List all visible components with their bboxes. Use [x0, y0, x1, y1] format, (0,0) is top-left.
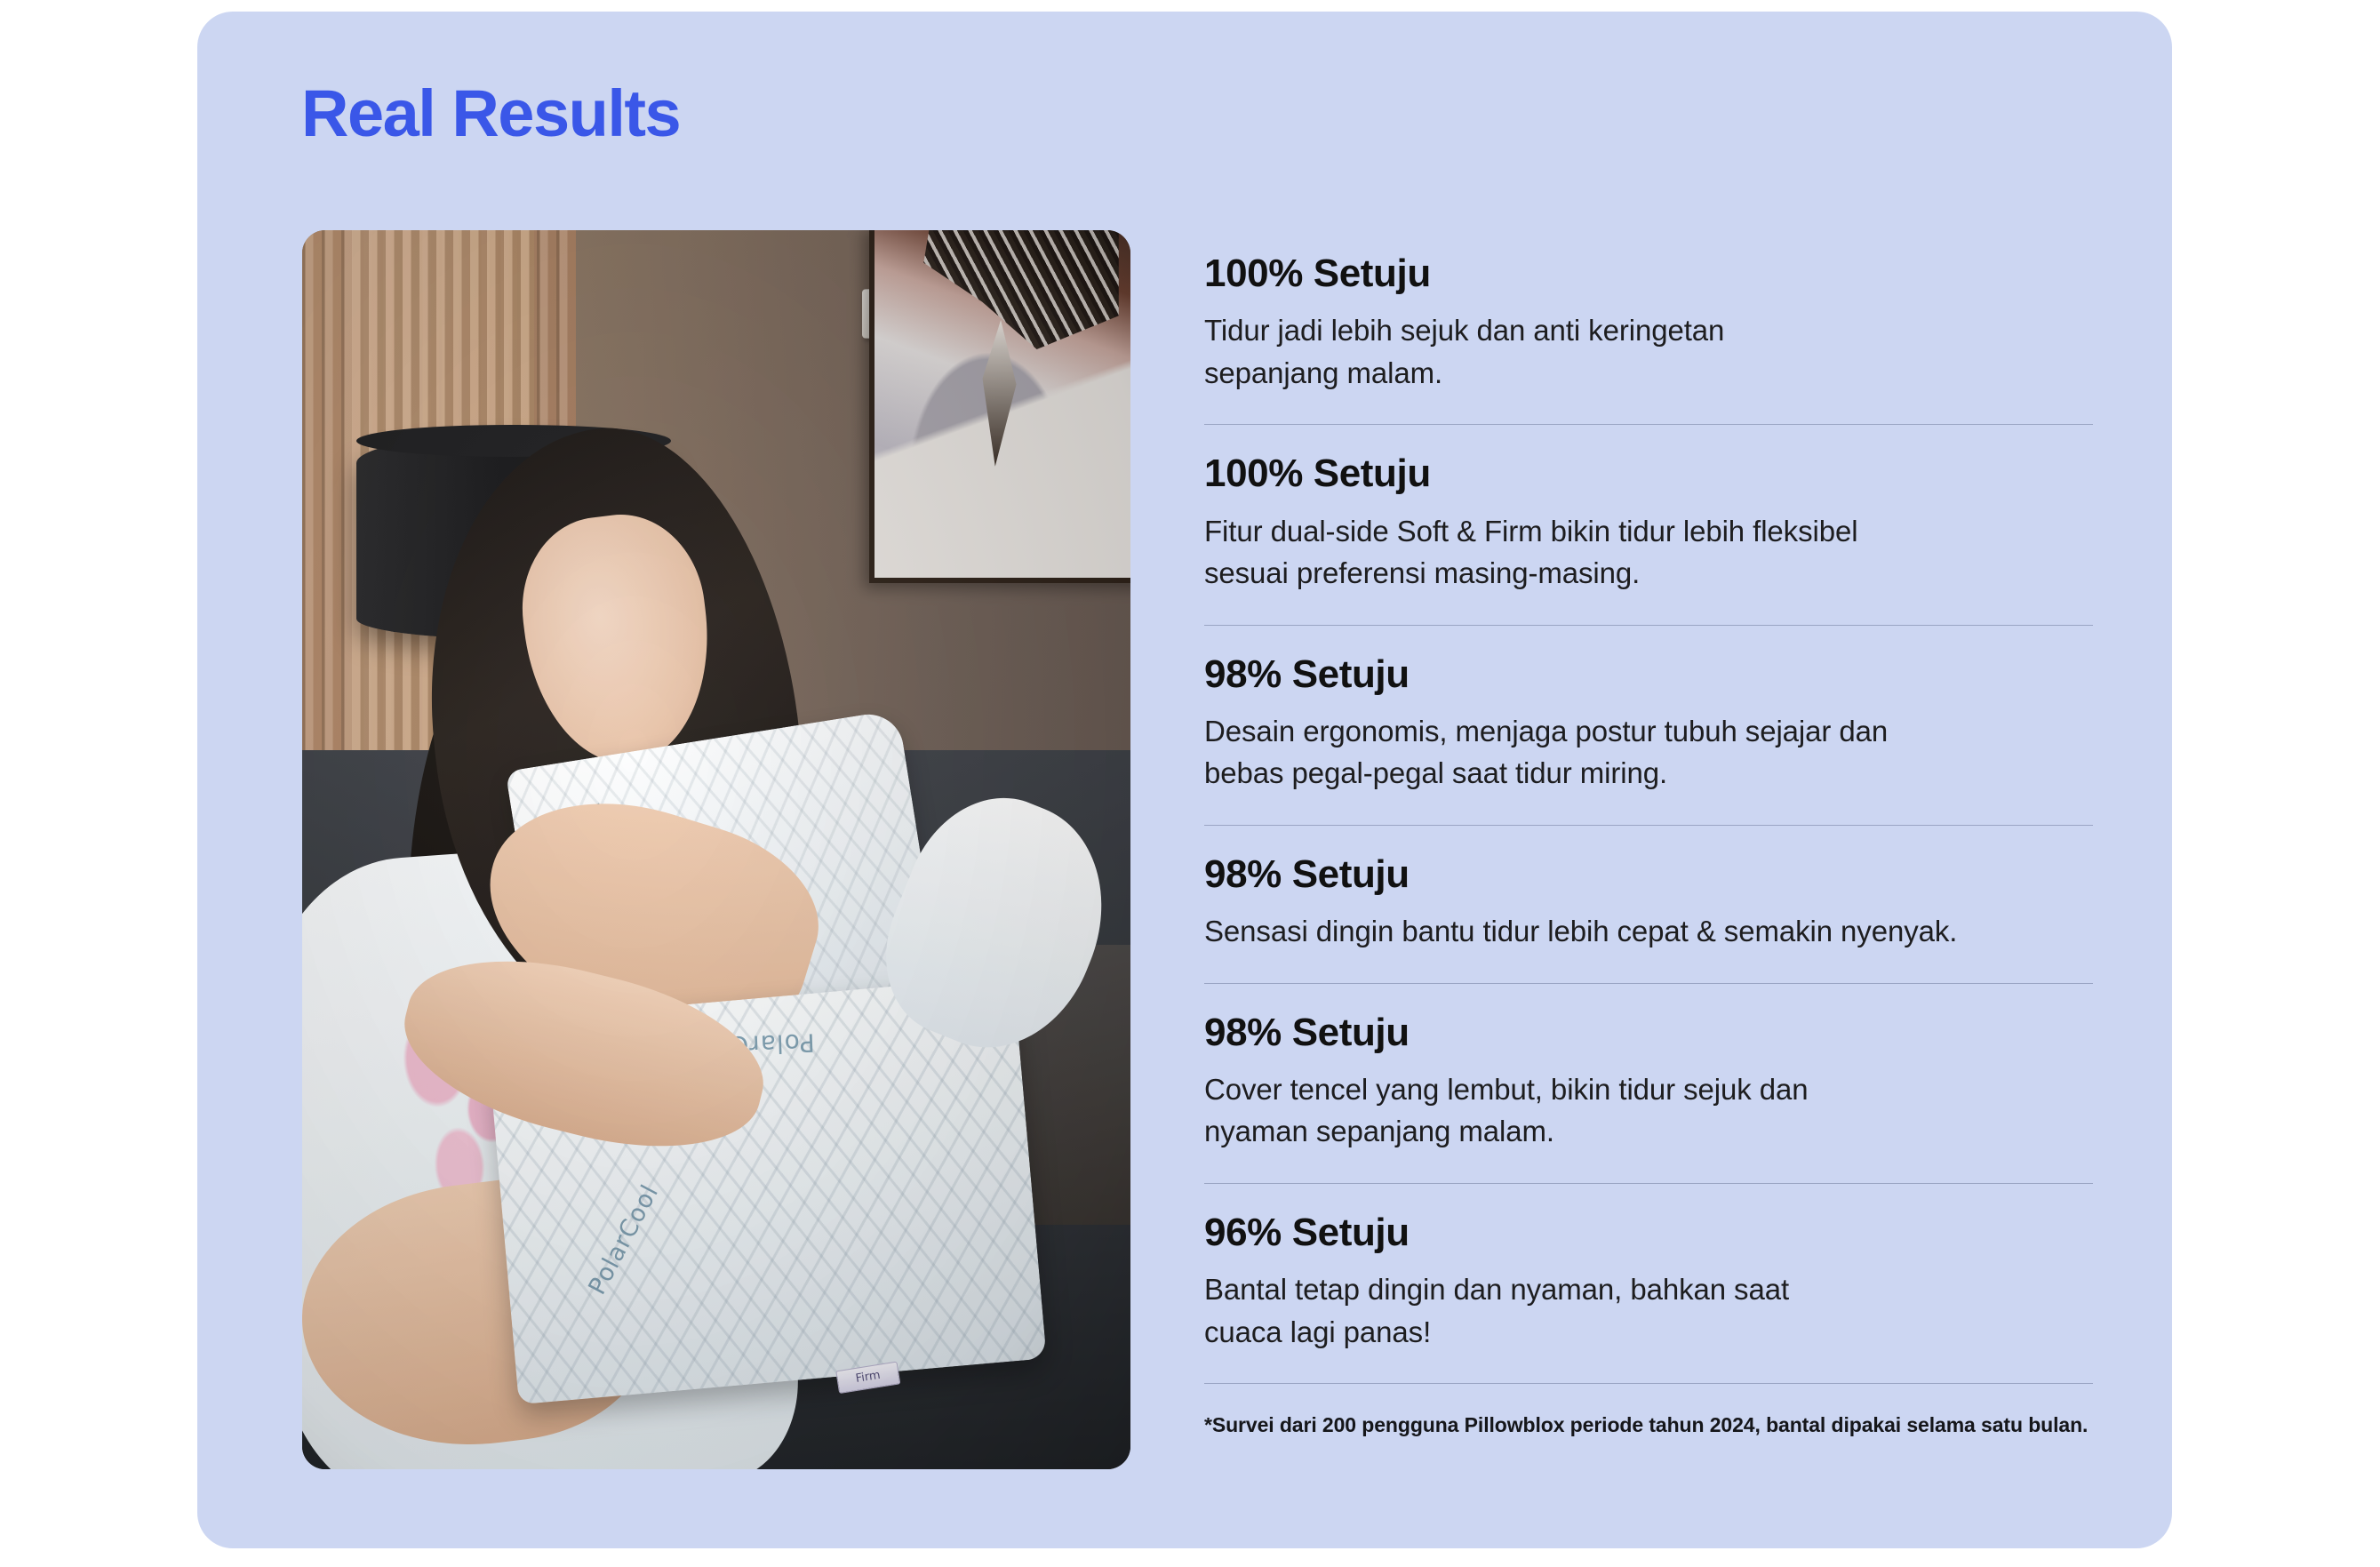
result-percent: 96% Setuju [1204, 1211, 2093, 1254]
artwork-canvas [875, 230, 1130, 578]
divider [1204, 424, 2093, 425]
page-root: Real Results [0, 0, 2380, 1567]
real-results-card: Real Results [197, 12, 2172, 1548]
result-description: Cover tencel yang lembut, bikin tidur se… [1204, 1068, 2093, 1153]
result-item: 100% Setuju Tidur jadi lebih sejuk dan a… [1204, 252, 2093, 394]
result-item: 100% Setuju Fitur dual-side Soft & Firm … [1204, 452, 2093, 594]
result-item: 98% Setuju Desain ergonomis, menjaga pos… [1204, 652, 2093, 795]
photo-scene: PolarCool PolarCool PolarCool Firm [302, 230, 1130, 1469]
result-percent: 98% Setuju [1204, 852, 2093, 896]
survey-footnote: *Survei dari 200 pengguna Pillowblox per… [1204, 1411, 2093, 1439]
result-description: Sensasi dingin bantu tidur lebih cepat &… [1204, 910, 2093, 953]
framed-artwork [869, 230, 1130, 583]
divider [1204, 825, 2093, 826]
result-item: 98% Setuju Sensasi dingin bantu tidur le… [1204, 852, 2093, 953]
result-description: Desain ergonomis, menjaga postur tubuh s… [1204, 710, 2093, 795]
result-percent: 100% Setuju [1204, 452, 2093, 495]
result-description: Bantal tetap dingin dan nyaman, bahkan s… [1204, 1268, 2093, 1353]
page-title: Real Results [301, 81, 680, 147]
divider [1204, 1383, 2093, 1384]
result-percent: 98% Setuju [1204, 652, 2093, 696]
result-percent: 98% Setuju [1204, 1011, 2093, 1054]
results-list: 100% Setuju Tidur jadi lebih sejuk dan a… [1204, 252, 2093, 1439]
lifestyle-photo: PolarCool PolarCool PolarCool Firm [302, 230, 1130, 1469]
divider [1204, 625, 2093, 626]
divider [1204, 1183, 2093, 1184]
result-description: Tidur jadi lebih sejuk dan anti keringet… [1204, 309, 2093, 394]
result-item: 96% Setuju Bantal tetap dingin dan nyama… [1204, 1211, 2093, 1353]
result-item: 98% Setuju Cover tencel yang lembut, bik… [1204, 1011, 2093, 1153]
result-percent: 100% Setuju [1204, 252, 2093, 295]
divider [1204, 983, 2093, 984]
result-description: Fitur dual-side Soft & Firm bikin tidur … [1204, 510, 2093, 595]
pillow-brand-label-tertiary: PolarCool [583, 1180, 664, 1299]
